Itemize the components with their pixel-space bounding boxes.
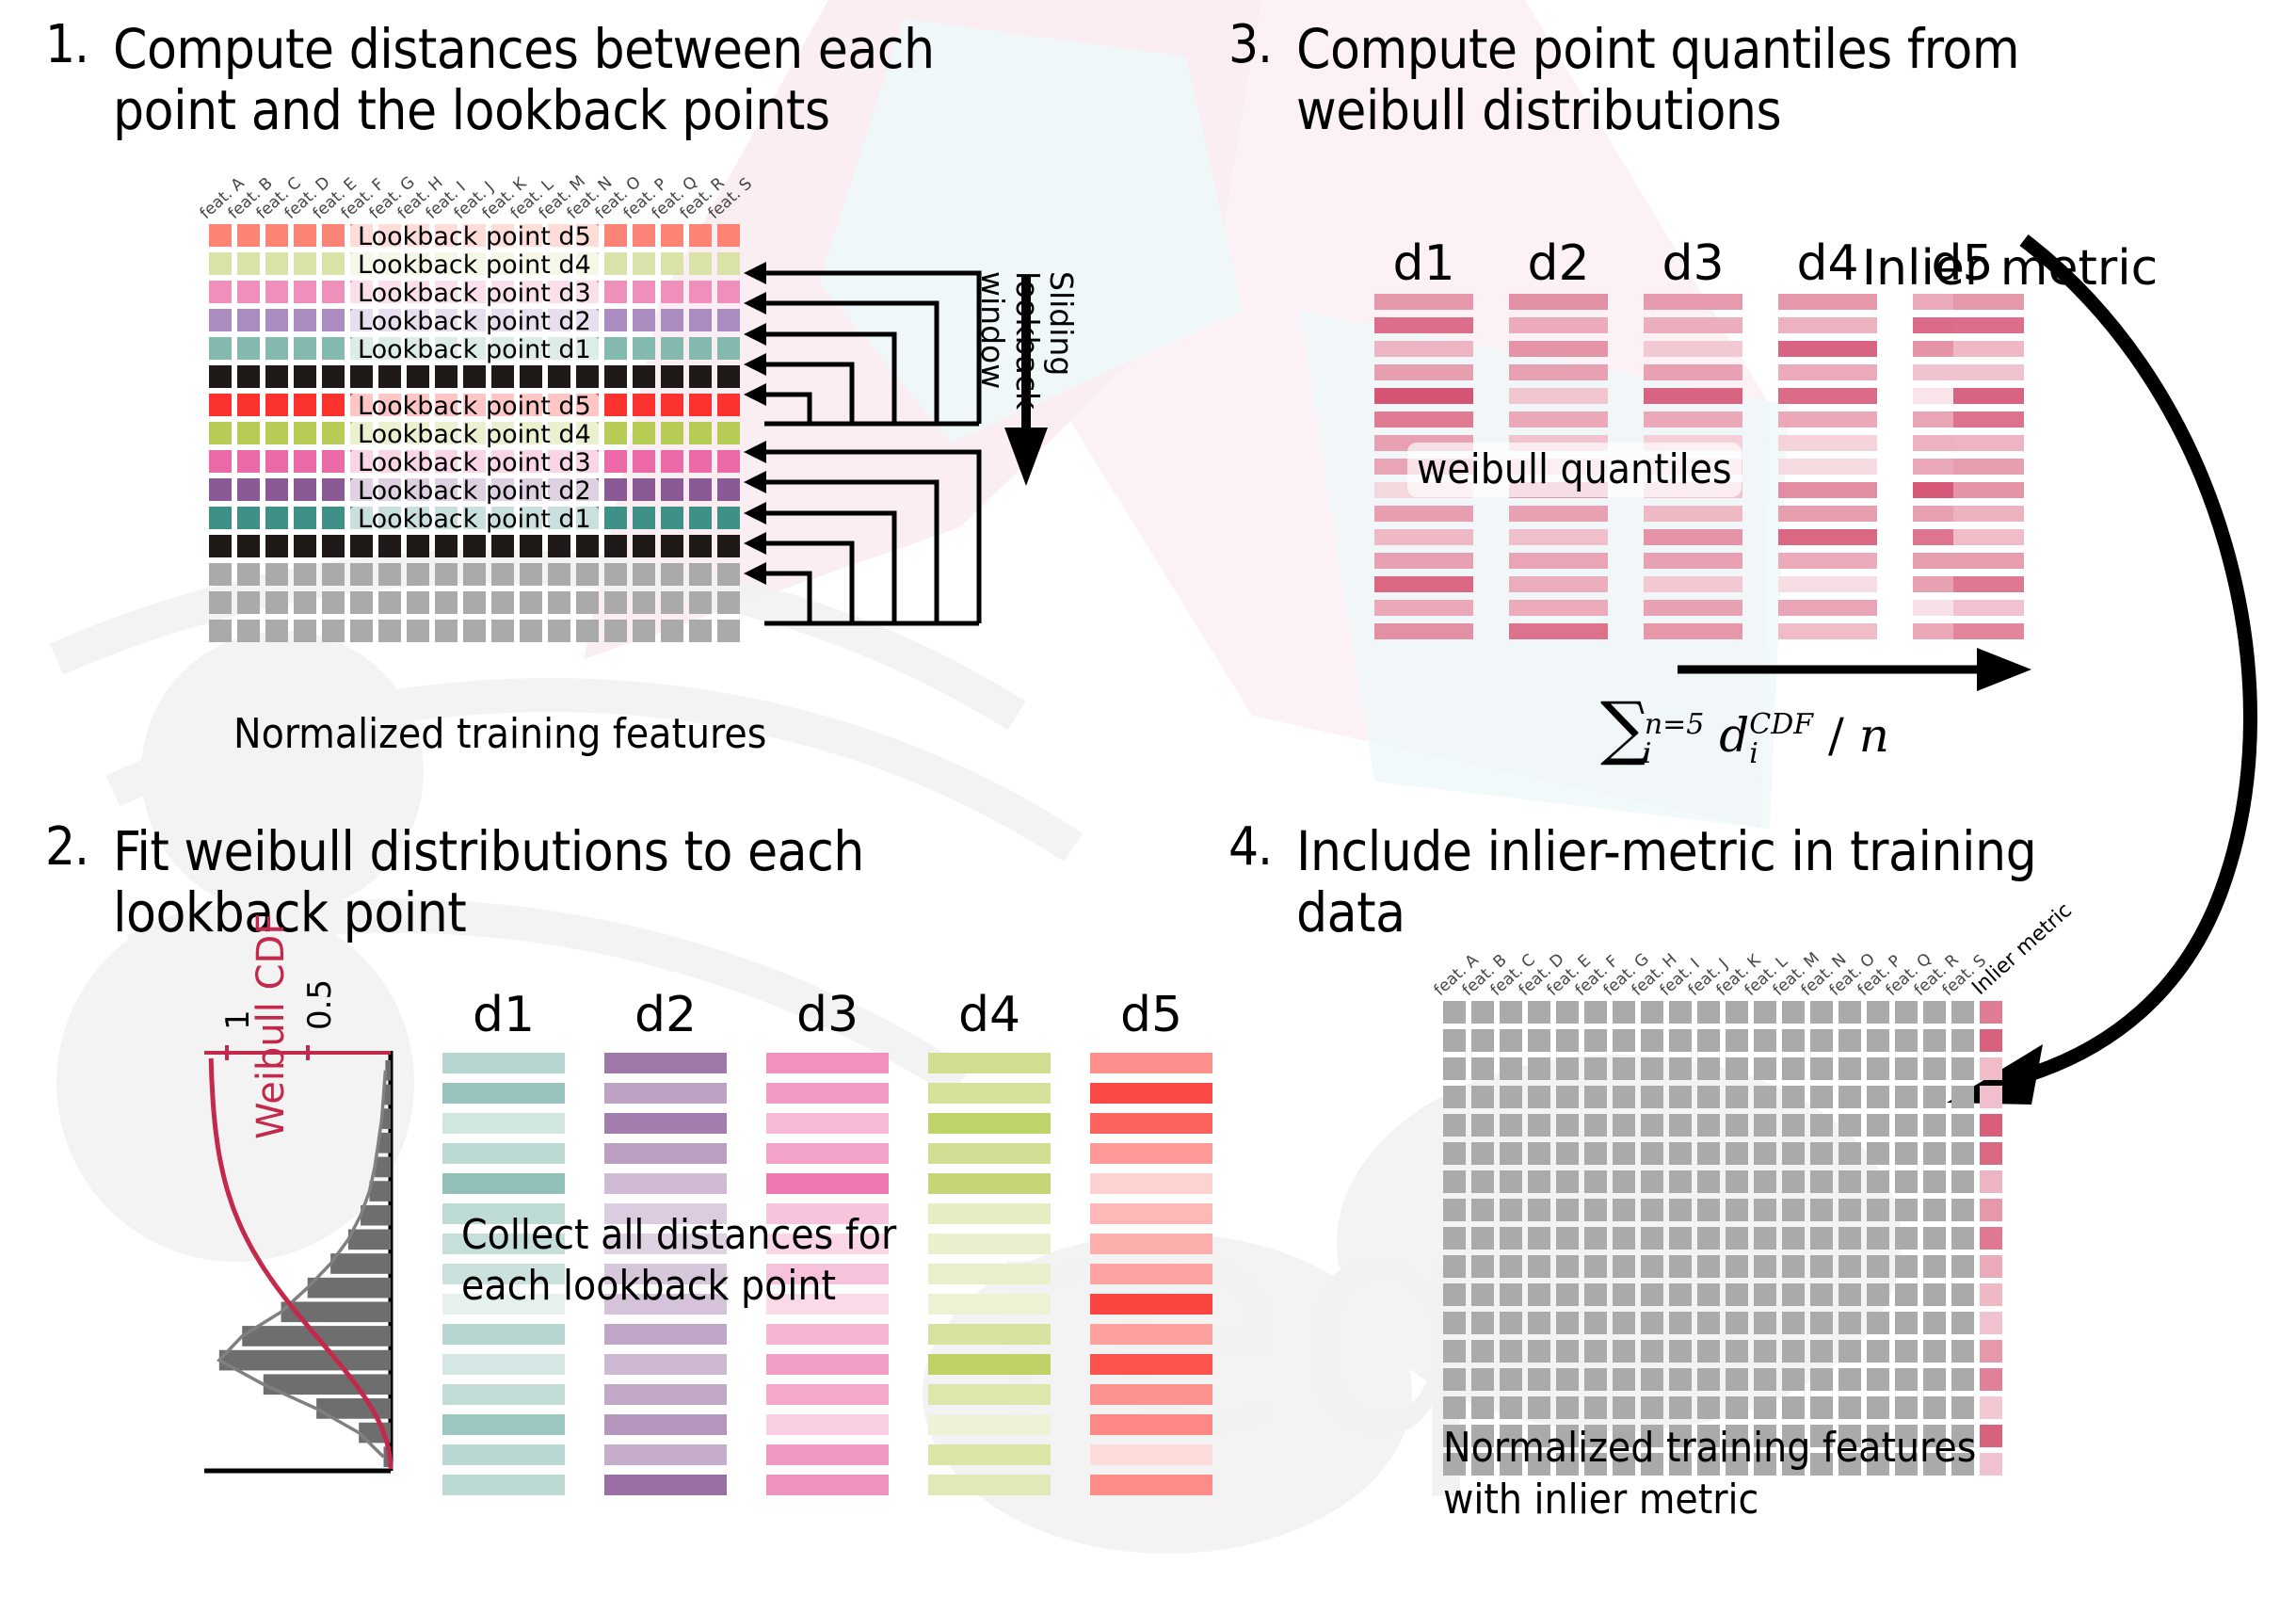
inlier-metric-cell: [1980, 1255, 2002, 1278]
feature-cell: [1669, 1255, 1692, 1278]
feature-cell: [1584, 1170, 1607, 1193]
feature-cell: [1810, 1283, 1833, 1306]
figure-canvas: req 1. Compute distances between each po…: [0, 0, 2296, 1597]
distance-bar: [1090, 1444, 1212, 1465]
feature-cell: [548, 535, 570, 557]
distance-bar: [1090, 1414, 1212, 1435]
feature-cell: [1584, 1001, 1607, 1024]
feature-cell: [1951, 1199, 1974, 1221]
quantile-bar: [1509, 576, 1608, 592]
feature-cell: [294, 309, 316, 331]
quantile-bar: [1374, 623, 1473, 639]
panel-1-title: Compute distances between each point and…: [113, 19, 935, 141]
feature-cell: [407, 535, 429, 557]
feature-cell: [322, 620, 345, 642]
feature-cell: [237, 422, 260, 444]
feature-cell: [548, 365, 570, 388]
feature-cell: [1838, 1340, 1861, 1363]
feature-cell: [1895, 1001, 1918, 1024]
feature-cell: [1697, 1170, 1720, 1193]
feature-cell: [209, 450, 232, 473]
panel-3-title: Compute point quantiles from weibull dis…: [1296, 19, 2019, 141]
feature-grid-row: [1443, 1312, 2002, 1334]
feature-cell: [1641, 1396, 1663, 1419]
feature-cell: [322, 252, 345, 275]
feature-cell: [1951, 1255, 1974, 1278]
feature-cell: [322, 563, 345, 586]
feature-cell: [520, 563, 542, 586]
feature-cell: [1500, 1340, 1522, 1363]
feature-cell: [1810, 1312, 1833, 1334]
feature-cell: [1669, 1142, 1692, 1165]
feature-cell: [1810, 1029, 1833, 1052]
feature-cell: [1867, 1114, 1889, 1137]
feature-cell: [1500, 1227, 1522, 1250]
feature-cell: [322, 591, 345, 614]
feature-cell: [1613, 1199, 1635, 1221]
distance-bar: [766, 1354, 889, 1375]
feature-cell: [265, 620, 288, 642]
feature-cell: [1726, 1057, 1748, 1080]
feature-cell: [1895, 1255, 1918, 1278]
feature-cell: [294, 478, 316, 501]
inlier-metric-cell: [1980, 1001, 2002, 1024]
feature-cell: [576, 563, 599, 586]
distance-bar: [928, 1444, 1051, 1465]
distance-bar: [928, 1143, 1051, 1164]
feature-cell: [237, 224, 260, 247]
feature-cell: [294, 507, 316, 529]
feature-cell: [1641, 1199, 1663, 1221]
feature-cell: [1613, 1114, 1635, 1137]
feature-cell: [1867, 1340, 1889, 1363]
feature-cell: [1951, 1142, 1974, 1165]
feature-cell: [491, 563, 514, 586]
feature-cell: [1923, 1170, 1946, 1193]
feature-cell: [661, 535, 683, 557]
feature-cell: [1471, 1170, 1494, 1193]
distance-bar: [766, 1414, 889, 1435]
feature-grid-row: [1443, 1142, 2002, 1165]
feature-cell: [1951, 1312, 1974, 1334]
feature-cell: [294, 535, 316, 557]
feature-cell: [1641, 1142, 1663, 1165]
inlier-metric-cell: [1980, 1086, 2002, 1108]
feature-cell: [1867, 1170, 1889, 1193]
feature-cell: [407, 563, 429, 586]
feature-cell: [491, 591, 514, 614]
feature-cell: [1500, 1086, 1522, 1108]
feature-cell: [322, 224, 345, 247]
feature-cell: [209, 394, 232, 416]
feature-cell: [1838, 1029, 1861, 1052]
feature-cell: [1951, 1227, 1974, 1250]
distance-bar: [442, 1083, 565, 1104]
feature-cell: [1584, 1368, 1607, 1391]
distance-bar: [604, 1143, 727, 1164]
inlier-metric-cell: [1980, 1170, 2002, 1193]
feature-cell: [548, 563, 570, 586]
feature-cell: [604, 620, 627, 642]
feature-grid-row: [1443, 1114, 2002, 1137]
feature-cell: [1726, 1114, 1748, 1137]
feature-cell: [1895, 1142, 1918, 1165]
lookback-point-label: Lookback point d3: [346, 447, 602, 478]
panel-2-title: Fit weibull distributions to each lookba…: [113, 821, 864, 944]
feature-cell: [1443, 1170, 1466, 1193]
feature-cell: [717, 309, 740, 331]
lookback-point-label: Lookback point d2: [346, 306, 602, 337]
feature-cell: [1556, 1170, 1579, 1193]
feature-cell: [1471, 1396, 1494, 1419]
feature-cell: [1754, 1199, 1776, 1221]
feature-cell: [1923, 1199, 1946, 1221]
feature-cell: [1782, 1199, 1805, 1221]
feature-cell: [378, 620, 401, 642]
inlier-metric-cell: [1980, 1396, 2002, 1419]
panel-4-feature-grid: [1443, 1001, 2002, 1481]
panel-2-column-header: d1: [442, 987, 565, 1043]
feature-cell: [1500, 1199, 1522, 1221]
feature-cell: [322, 337, 345, 360]
feature-cell: [1613, 1312, 1635, 1334]
feature-cell: [1867, 1199, 1889, 1221]
feature-cell: [1669, 1199, 1692, 1221]
quantile-bar: [1644, 553, 1742, 569]
feature-cell: [1782, 1086, 1805, 1108]
distance-bar: [1090, 1354, 1212, 1375]
feature-cell: [237, 450, 260, 473]
feature-cell: [1810, 1142, 1833, 1165]
distance-bar: [928, 1294, 1051, 1315]
feature-cell: [1867, 1255, 1889, 1278]
distance-bar: [442, 1173, 565, 1194]
distance-bar: [442, 1143, 565, 1164]
quantile-bar: [1509, 411, 1608, 427]
feature-cell: [1556, 1283, 1579, 1306]
feature-cell: [1528, 1057, 1550, 1080]
feature-cell: [378, 535, 401, 557]
feature-cell: [209, 337, 232, 360]
feature-cell: [1726, 1227, 1748, 1250]
feature-cell: [661, 281, 683, 303]
quantile-bar: [1778, 435, 1877, 451]
histogram-bar: [219, 1350, 391, 1371]
feature-cell: [237, 281, 260, 303]
feature-cell: [1641, 1340, 1663, 1363]
feature-cell: [1782, 1170, 1805, 1193]
distance-bar: [766, 1113, 889, 1134]
panel-3-column-header: d1: [1374, 235, 1473, 292]
distance-bar: [442, 1475, 565, 1495]
feature-cell: [1669, 1029, 1692, 1052]
feature-cell: [633, 563, 655, 586]
feature-cell: [1923, 1340, 1946, 1363]
inlier-metric-cell: [1980, 1029, 2002, 1052]
feature-cell: [1810, 1199, 1833, 1221]
feature-cell: [1951, 1086, 1974, 1108]
quantile-bar: [1374, 529, 1473, 545]
quantile-bar: [1778, 459, 1877, 475]
feature-cell: [1669, 1114, 1692, 1137]
feature-cell: [661, 450, 683, 473]
feature-cell: [265, 252, 288, 275]
feature-cell: [1726, 1396, 1748, 1419]
feature-cell: [1923, 1114, 1946, 1137]
feature-cell: [1726, 1029, 1748, 1052]
feature-cell: [1923, 1029, 1946, 1052]
feature-cell: [1528, 1170, 1550, 1193]
quantile-bar: [1374, 576, 1473, 592]
feature-cell: [1726, 1312, 1748, 1334]
feature-cell: [1838, 1368, 1861, 1391]
feature-cell: [1471, 1199, 1494, 1221]
distance-bar-stack: [928, 1053, 1051, 1505]
feature-cell: [1697, 1142, 1720, 1165]
feature-cell: [1556, 1199, 1579, 1221]
distance-bar: [1090, 1083, 1212, 1104]
feature-cell: [1895, 1029, 1918, 1052]
feature-cell: [322, 422, 345, 444]
distance-bar: [1090, 1113, 1212, 1134]
feature-cell: [1726, 1199, 1748, 1221]
feature-cell: [1754, 1368, 1776, 1391]
feature-grid-row: [1443, 1396, 2002, 1419]
feature-cell: [1669, 1057, 1692, 1080]
feature-cell: [689, 507, 712, 529]
feature-cell: [633, 450, 655, 473]
feature-cell: [1443, 1227, 1466, 1250]
quantile-bar: [1509, 600, 1608, 616]
feature-cell: [1500, 1114, 1522, 1137]
feature-cell: [1641, 1368, 1663, 1391]
panel-4-title: Include inlier-metric in training data: [1296, 821, 2036, 944]
quantile-bar: [1374, 553, 1473, 569]
feature-cell: [576, 535, 599, 557]
inlier-metric-cell: [1980, 1340, 2002, 1363]
feature-cell: [1613, 1340, 1635, 1363]
feature-cell: [1641, 1029, 1663, 1052]
quantile-bar: [1778, 341, 1877, 357]
feature-cell: [661, 394, 683, 416]
feature-cell: [717, 450, 740, 473]
feature-cell: [435, 365, 458, 388]
feature-cell: [1556, 1227, 1579, 1250]
feature-cell: [717, 394, 740, 416]
feature-cell: [1838, 1114, 1861, 1137]
feature-cell: [237, 365, 260, 388]
feature-cell: [1810, 1368, 1833, 1391]
inlier-metric-cell: [1980, 1425, 2002, 1447]
feature-cell: [1613, 1283, 1635, 1306]
feature-cell: [633, 535, 655, 557]
feature-cell: [717, 337, 740, 360]
feature-cell: [265, 337, 288, 360]
feature-cell: [1838, 1227, 1861, 1250]
feature-grid-row: [1443, 1170, 2002, 1193]
feature-cell: [209, 478, 232, 501]
feature-cell: [1443, 1255, 1466, 1278]
panel-1-feature-labels: feat. Afeat. Bfeat. Cfeat. Dfeat. Efeat.…: [209, 165, 774, 223]
distance-bar: [442, 1444, 565, 1465]
distance-bar: [928, 1113, 1051, 1134]
distance-bar: [604, 1475, 727, 1495]
lookback-point-label: Lookback point d5: [346, 391, 602, 422]
feature-grid-row: [1443, 1029, 2002, 1052]
feature-cell: [1471, 1057, 1494, 1080]
quantile-bar: [1778, 506, 1877, 522]
quantile-bar: [1778, 411, 1877, 427]
feature-cell: [1641, 1170, 1663, 1193]
feature-cell: [265, 450, 288, 473]
feature-cell: [604, 365, 627, 388]
distance-bar: [604, 1324, 727, 1345]
feature-cell: [1754, 1312, 1776, 1334]
feature-grid-row: [1443, 1283, 2002, 1306]
feature-cell: [661, 507, 683, 529]
inlier-metric-cell: [1980, 1142, 2002, 1165]
feature-cell: [1754, 1255, 1776, 1278]
feature-cell: [209, 591, 232, 614]
feature-cell: [265, 507, 288, 529]
feature-cell: [1867, 1029, 1889, 1052]
feature-cell: [407, 620, 429, 642]
feature-cell: [1895, 1340, 1918, 1363]
feature-cell: [1951, 1001, 1974, 1024]
feature-cell: [1443, 1396, 1466, 1419]
feature-cell: [604, 507, 627, 529]
feature-cell: [1838, 1199, 1861, 1221]
feature-cell: [1838, 1142, 1861, 1165]
feature-cell: [1669, 1001, 1692, 1024]
feature-cell: [1443, 1086, 1466, 1108]
feature-cell: [322, 365, 345, 388]
feature-cell: [661, 620, 683, 642]
feature-cell: [435, 620, 458, 642]
quantile-bar: [1509, 529, 1608, 545]
distance-bar: [604, 1444, 727, 1465]
cdf-tick-05: 0.5: [301, 979, 339, 1030]
feature-cell: [1951, 1396, 1974, 1419]
feature-cell: [717, 620, 740, 642]
feature-cell: [265, 591, 288, 614]
panel-4-caption: Normalized training features with inlier…: [1443, 1422, 1976, 1525]
panel-4-feature-labels: feat. Afeat. Bfeat. Cfeat. Dfeat. Efeat.…: [1443, 942, 2102, 1000]
feature-grid-row: [209, 620, 746, 642]
quantile-bar: [1644, 388, 1742, 404]
panel-2: 2. Fit weibull distributions to each loo…: [45, 821, 1081, 944]
feature-cell: [1782, 1057, 1805, 1080]
feature-cell: [237, 620, 260, 642]
feature-cell: [1528, 1255, 1550, 1278]
feature-cell: [209, 309, 232, 331]
panel-3-number: 3.: [1228, 19, 1272, 72]
feature-cell: [1500, 1368, 1522, 1391]
feature-grid-row: [1443, 1227, 2002, 1250]
panel-2-number: 2.: [45, 821, 88, 874]
quantile-bar: [1509, 294, 1608, 310]
feature-cell: [1923, 1283, 1946, 1306]
feature-cell: [491, 620, 514, 642]
panel-2-column-header: d4: [928, 987, 1051, 1043]
feature-cell: [407, 365, 429, 388]
feature-cell: [209, 507, 232, 529]
feature-cell: [520, 535, 542, 557]
feature-cell: [378, 563, 401, 586]
feature-cell: [1867, 1227, 1889, 1250]
feature-cell: [1754, 1142, 1776, 1165]
feature-cell: [1810, 1396, 1833, 1419]
feature-cell: [1810, 1001, 1833, 1024]
feature-cell: [1500, 1312, 1522, 1334]
feature-cell: [1867, 1086, 1889, 1108]
feature-cell: [1613, 1396, 1635, 1419]
feature-cell: [237, 507, 260, 529]
feature-cell: [1500, 1255, 1522, 1278]
feature-cell: [689, 563, 712, 586]
quantile-bar: [1509, 623, 1608, 639]
lookback-point-label: Lookback point d1: [346, 334, 602, 365]
quantile-bar: [1509, 317, 1608, 333]
quantile-bar: [1374, 341, 1473, 357]
feature-cell: [1923, 1396, 1946, 1419]
feature-cell: [1754, 1057, 1776, 1080]
feature-cell: [237, 337, 260, 360]
feature-cell: [1584, 1029, 1607, 1052]
feature-cell: [520, 365, 542, 388]
feature-cell: [1471, 1001, 1494, 1024]
feature-cell: [633, 422, 655, 444]
feature-cell: [294, 365, 316, 388]
inlier-metric-cell: [1980, 1199, 2002, 1221]
quantile-bar: [1778, 576, 1877, 592]
feature-cell: [1641, 1057, 1663, 1080]
distance-bar: [928, 1234, 1051, 1254]
feature-cell: [1810, 1114, 1833, 1137]
feature-cell: [689, 450, 712, 473]
panel-4-heading: 4. Include inlier-metric in training dat…: [1228, 821, 2226, 944]
feature-cell: [1782, 1340, 1805, 1363]
feature-cell: [689, 591, 712, 614]
lookback-point-label: Lookback point d3: [346, 278, 602, 309]
feature-cell: [1867, 1142, 1889, 1165]
feature-cell: [378, 365, 401, 388]
feature-cell: [407, 591, 429, 614]
feature-cell: [1528, 1086, 1550, 1108]
feature-cell: [1754, 1029, 1776, 1052]
feature-cell: [1810, 1086, 1833, 1108]
feature-cell: [717, 478, 740, 501]
feature-cell: [689, 394, 712, 416]
feature-cell: [633, 281, 655, 303]
distance-bar: [604, 1384, 727, 1405]
feature-cell: [1951, 1340, 1974, 1363]
feature-cell: [689, 478, 712, 501]
feature-cell: [1697, 1199, 1720, 1221]
feature-cell: [1528, 1396, 1550, 1419]
feature-cell: [237, 252, 260, 275]
feature-cell: [209, 535, 232, 557]
quantile-bar: [1778, 600, 1877, 616]
feature-cell: [1556, 1396, 1579, 1419]
feature-cell: [1641, 1227, 1663, 1250]
feature-cell: [294, 337, 316, 360]
feature-cell: [1754, 1227, 1776, 1250]
feature-cell: [1923, 1368, 1946, 1391]
distance-bar: [928, 1203, 1051, 1224]
feature-cell: [604, 252, 627, 275]
panel-3-formula: ∑n=5i dCDFi / n: [1600, 687, 1889, 769]
